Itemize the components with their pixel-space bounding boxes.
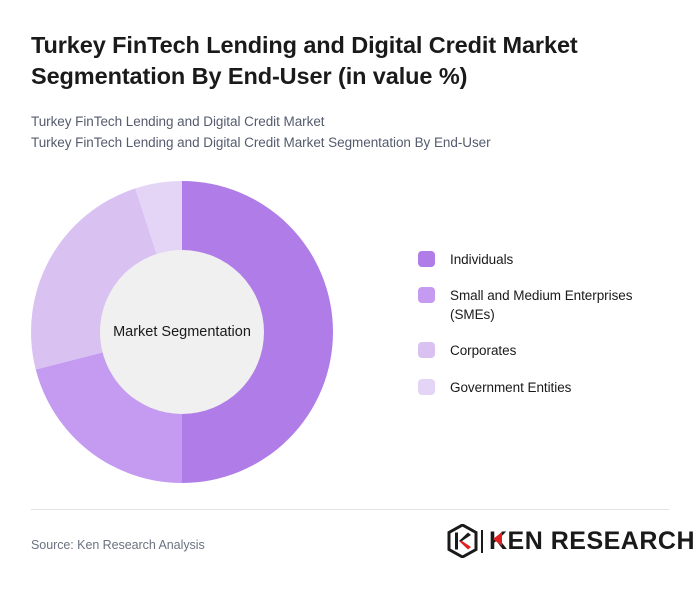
- footer-divider: [31, 509, 669, 510]
- legend-label: Corporates: [450, 341, 516, 360]
- legend-label: Individuals: [450, 250, 513, 269]
- svg-text:KEN RESEARCH: KEN RESEARCH: [489, 527, 695, 555]
- chart-card: Turkey FinTech Lending and Digital Credi…: [0, 0, 700, 591]
- chart-legend: IndividualsSmall and Medium Enterprises …: [418, 250, 678, 414]
- legend-swatch-icon: [418, 251, 435, 267]
- legend-label: Small and Medium Enterprises (SMEs): [450, 286, 678, 324]
- ken-research-hexagon-k-icon: [447, 524, 478, 558]
- legend-swatch-icon: [418, 342, 435, 358]
- legend-item[interactable]: Individuals: [418, 250, 678, 269]
- logo-wordmark: KEN RESEARCH: [489, 527, 700, 555]
- legend-swatch-icon: [418, 287, 435, 303]
- legend-swatch-icon: [418, 379, 435, 395]
- legend-item[interactable]: Small and Medium Enterprises (SMEs): [418, 286, 678, 324]
- donut-hole: [100, 250, 264, 414]
- donut-chart: Market Segmentation: [31, 181, 333, 483]
- ken-research-logo: KEN RESEARCH: [447, 524, 700, 558]
- donut-svg: [31, 181, 333, 483]
- source-text: Source: Ken Research Analysis: [31, 538, 205, 552]
- chart-area: Market Segmentation IndividualsSmall and…: [0, 0, 700, 591]
- legend-item[interactable]: Corporates: [418, 341, 678, 360]
- legend-item[interactable]: Government Entities: [418, 378, 678, 397]
- legend-label: Government Entities: [450, 378, 571, 397]
- logo-separator: [481, 530, 483, 553]
